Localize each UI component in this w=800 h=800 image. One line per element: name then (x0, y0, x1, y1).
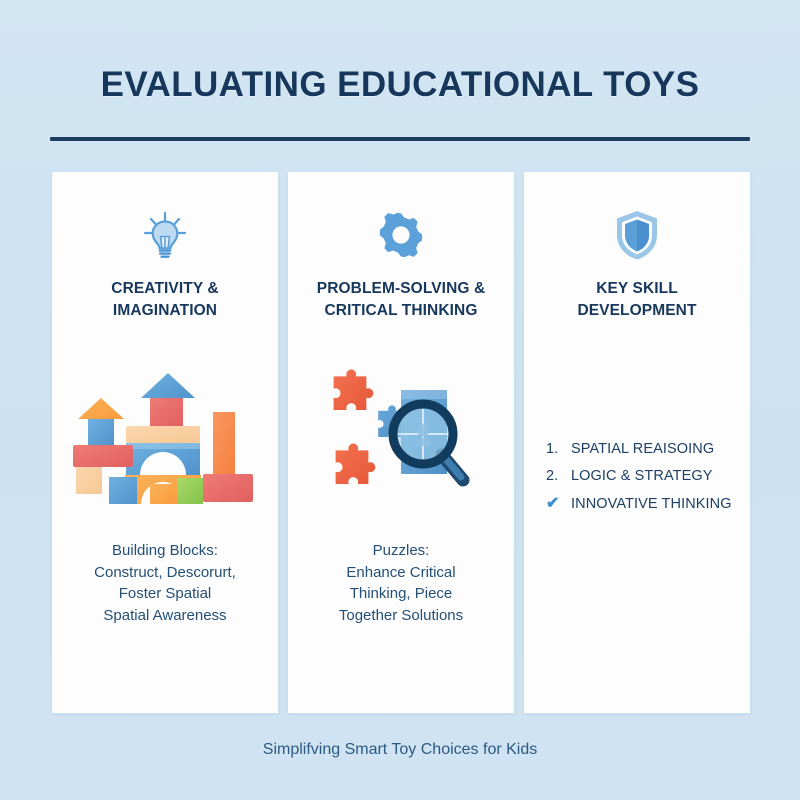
shield-icon (524, 204, 750, 266)
page-title: EVALUATING EDUCATIONAL TOYS (0, 64, 800, 106)
list-item-label: LOGIC & STRATEGY (571, 467, 713, 486)
card-body-creativity: Building Blocks: Construct, Descorurt, F… (62, 540, 268, 626)
card-title-problem-solving: PROBLEM-SOLVING & CRITICAL THINKING (300, 278, 502, 322)
title-divider (50, 137, 750, 141)
card-body-problem-solving: Puzzles: Enhance Critical Thinking, Piec… (298, 540, 504, 626)
building-blocks-illustration (52, 362, 278, 512)
card-container: CREATIVITY & IMAGINATION (52, 172, 750, 713)
list-item-label: SPATIAL REAISOING (571, 440, 714, 459)
card-key-skills[interactable]: KEY SKILL DEVELOPMENT 1. SPATIAL REAISOI… (524, 172, 750, 713)
card-creativity[interactable]: CREATIVITY & IMAGINATION (52, 172, 278, 713)
card-problem-solving[interactable]: PROBLEM-SOLVING & CRITICAL THINKING (288, 172, 514, 713)
check-icon: ✔ (546, 494, 563, 513)
list-marker: 2. (546, 467, 563, 486)
lightbulb-icon (52, 204, 278, 266)
list-item: 2. LOGIC & STRATEGY (546, 467, 740, 486)
gear-icon (288, 204, 514, 266)
list-marker: 1. (546, 440, 563, 459)
list-item: ✔ INNOVATIVE THINKING (546, 494, 740, 514)
card-title-creativity: CREATIVITY & IMAGINATION (64, 278, 266, 322)
infographic-poster: EVALUATING EDUCATIONAL TOYS (0, 0, 800, 800)
list-item: 1. SPATIAL REAISOING (546, 440, 740, 459)
puzzle-magnifier-illustration (288, 362, 514, 512)
footer-caption: Simplifving Smart Toy Choices for Kids (0, 741, 800, 759)
card-title-key-skills: KEY SKILL DEVELOPMENT (536, 278, 738, 322)
list-item-label: INNOVATIVE THINKING (571, 495, 732, 514)
skill-list: 1. SPATIAL REAISOING 2. LOGIC & STRATEGY… (546, 440, 740, 514)
